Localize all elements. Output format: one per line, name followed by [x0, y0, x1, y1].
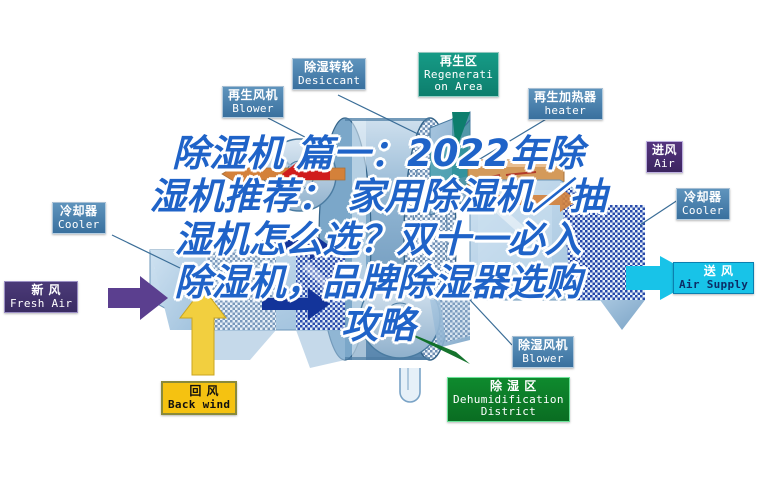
- dehumidifier-diagram: [0, 0, 757, 488]
- callout-desiccant-rotor: 除湿转轮 Desiccant: [292, 58, 366, 90]
- callout-cn-text: 进风: [652, 144, 677, 157]
- condensate-drain-shape: [400, 368, 420, 402]
- callout-en-text-line2: District: [453, 406, 564, 418]
- callout-en-text: heater: [534, 105, 597, 117]
- callout-cn-text: 除湿转轮: [298, 61, 360, 74]
- callout-cn-text: 再生加热器: [534, 91, 597, 104]
- callout-cn-text: 冷却器: [682, 191, 724, 204]
- callout-fresh-air: 新 风 Fresh Air: [4, 281, 78, 313]
- callout-cn-text: 除 湿 区: [453, 380, 564, 393]
- callout-cn-text: 再生区: [424, 55, 493, 68]
- callout-cn-text: 再生风机: [228, 89, 278, 102]
- callout-cn-text: 回 风: [168, 385, 230, 398]
- callout-en-text: Blower: [518, 353, 568, 365]
- callout-en-text: Cooler: [58, 219, 100, 231]
- callout-en-text: Air: [652, 158, 677, 170]
- callout-en-text: Desiccant: [298, 75, 360, 87]
- callout-regen-blower: 再生风机 Blower: [222, 86, 284, 118]
- callout-dehumidification-district: 除 湿 区 Dehumidification District: [447, 377, 570, 422]
- callout-cn-text: 送 风: [679, 265, 748, 278]
- callout-en-text: Cooler: [682, 205, 724, 217]
- callout-regen-heater: 再生加热器 heater: [528, 88, 603, 120]
- callout-air-supply: 送 风 Air Supply: [673, 262, 754, 294]
- callout-cooler-left: 冷却器 Cooler: [52, 202, 106, 234]
- callout-back-wind: 回 风 Back wind: [161, 381, 237, 415]
- callout-cooler-right: 冷却器 Cooler: [676, 188, 730, 220]
- callout-cn-text: 除湿风机: [518, 339, 568, 352]
- callout-en-text: Back wind: [168, 399, 230, 411]
- screenshot-root: 除湿转轮 Desiccant 再生风机 Blower 再生区 Regenerat…: [0, 0, 757, 488]
- callout-en-text: Air Supply: [679, 279, 748, 291]
- callout-en-text-line1: Dehumidification: [453, 394, 564, 406]
- callout-en-text-line2: on Area: [424, 81, 493, 93]
- callout-en-text: Blower: [228, 103, 278, 115]
- callout-en-text-line1: Regenerati: [424, 69, 493, 81]
- callout-cn-text: 新 风: [10, 284, 72, 297]
- callout-en-text: Fresh Air: [10, 298, 72, 310]
- callout-air-intake: 进风 Air: [646, 141, 683, 173]
- callout-regeneration-area: 再生区 Regenerati on Area: [418, 52, 499, 97]
- callout-dehum-blower: 除湿风机 Blower: [512, 336, 574, 368]
- callout-cn-text: 冷却器: [58, 205, 100, 218]
